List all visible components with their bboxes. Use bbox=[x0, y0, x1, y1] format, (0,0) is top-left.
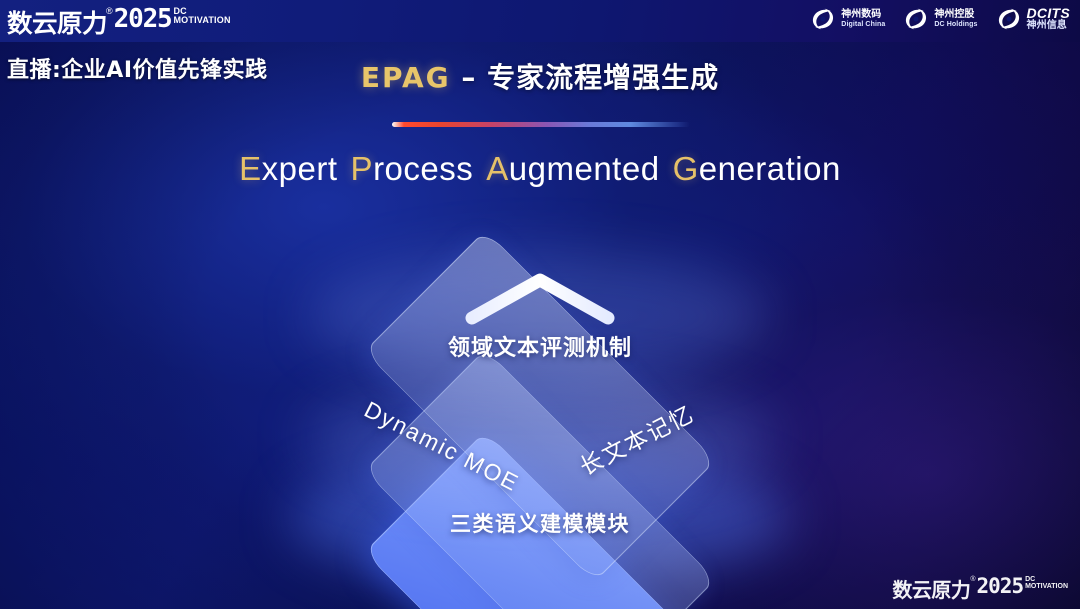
event-logo: 数云原力 ® 2025 DC MOTIVATION bbox=[8, 4, 231, 40]
headline-dash: – bbox=[451, 61, 488, 94]
subtitle-cap-g: G bbox=[673, 150, 699, 187]
subtitle-word-process: Process bbox=[351, 150, 474, 187]
headline-acronym: EPAG bbox=[361, 61, 451, 94]
watermark-sub-motivation: MOTIVATION bbox=[1025, 583, 1068, 590]
event-logo-cn: 数云原力 bbox=[7, 4, 107, 40]
swirl-icon bbox=[810, 6, 836, 32]
layer-label-bottom: 三类语义建模模块 bbox=[0, 508, 1080, 538]
partner-logo-group: 神州数码 Digital China 神州控股 DC Holdings bbox=[810, 6, 1070, 32]
partner-text: 神州数码 Digital China bbox=[841, 10, 885, 28]
subtitle-word-expert: Expert bbox=[239, 150, 337, 187]
subtitle-cap-e: E bbox=[239, 150, 262, 187]
live-broadcast-title: 直播:企业AI价值先锋实践 bbox=[7, 52, 268, 84]
subtitle-word-generation: Generation bbox=[673, 150, 841, 187]
partner-logo-dc-holdings: 神州控股 DC Holdings bbox=[903, 6, 977, 32]
chevron-up-icon bbox=[460, 268, 620, 330]
partner-text: DCITS 神州信息 bbox=[1027, 6, 1071, 31]
subtitle-rest-augmented: ugmented bbox=[509, 150, 660, 187]
partner-logo-digital-china: 神州数码 Digital China bbox=[810, 6, 885, 32]
partner-name-en: 神州信息 bbox=[1027, 21, 1071, 32]
subtitle-cap-a: A bbox=[486, 150, 509, 187]
subtitle-rest-process: rocess bbox=[373, 150, 473, 187]
layer-label-top: 领域文本评测机制 bbox=[0, 330, 1080, 362]
subtitle-word-augmented: Augmented bbox=[486, 150, 659, 187]
swirl-icon bbox=[996, 6, 1022, 32]
slide-canvas: 数云原力 ® 2025 DC MOTIVATION 直播:企业AI价值先锋实践 … bbox=[0, 0, 1080, 609]
partner-name-en: DC Holdings bbox=[934, 21, 977, 28]
subtitle-rest-expert: xpert bbox=[262, 150, 338, 187]
partner-name-cn: 神州控股 bbox=[934, 10, 977, 21]
watermark-registered-mark: ® bbox=[970, 576, 975, 583]
watermark-year: 2025 bbox=[977, 574, 1024, 598]
partner-name-cn: DCITS bbox=[1027, 6, 1071, 21]
event-logo-year: 2025 bbox=[114, 4, 172, 34]
headline-chinese: 专家流程增强生成 bbox=[487, 61, 719, 94]
slide-subtitle: ExpertProcessAugmentedGeneration bbox=[0, 150, 1080, 188]
event-logo-registered-mark: ® bbox=[106, 6, 113, 16]
event-logo-sub: DC MOTIVATION bbox=[173, 7, 230, 25]
subtitle-cap-p: P bbox=[351, 150, 374, 187]
watermark-sub: DC MOTIVATION bbox=[1025, 576, 1068, 590]
swirl-icon bbox=[903, 6, 929, 32]
partner-logo-dcits: DCITS 神州信息 bbox=[996, 6, 1071, 32]
watermark-cn: 数云原力 bbox=[892, 574, 970, 603]
watermark-logo: 数云原力 ® 2025 DC MOTIVATION bbox=[892, 574, 1068, 603]
watermark-sub-dc: DC bbox=[1025, 576, 1068, 583]
partner-name-en: Digital China bbox=[841, 21, 885, 28]
event-logo-sub-motivation: MOTIVATION bbox=[173, 16, 230, 25]
subtitle-rest-generation: eneration bbox=[699, 150, 841, 187]
partner-name-cn: 神州数码 bbox=[841, 10, 885, 21]
gradient-divider bbox=[392, 122, 690, 127]
partner-text: 神州控股 DC Holdings bbox=[934, 10, 977, 28]
